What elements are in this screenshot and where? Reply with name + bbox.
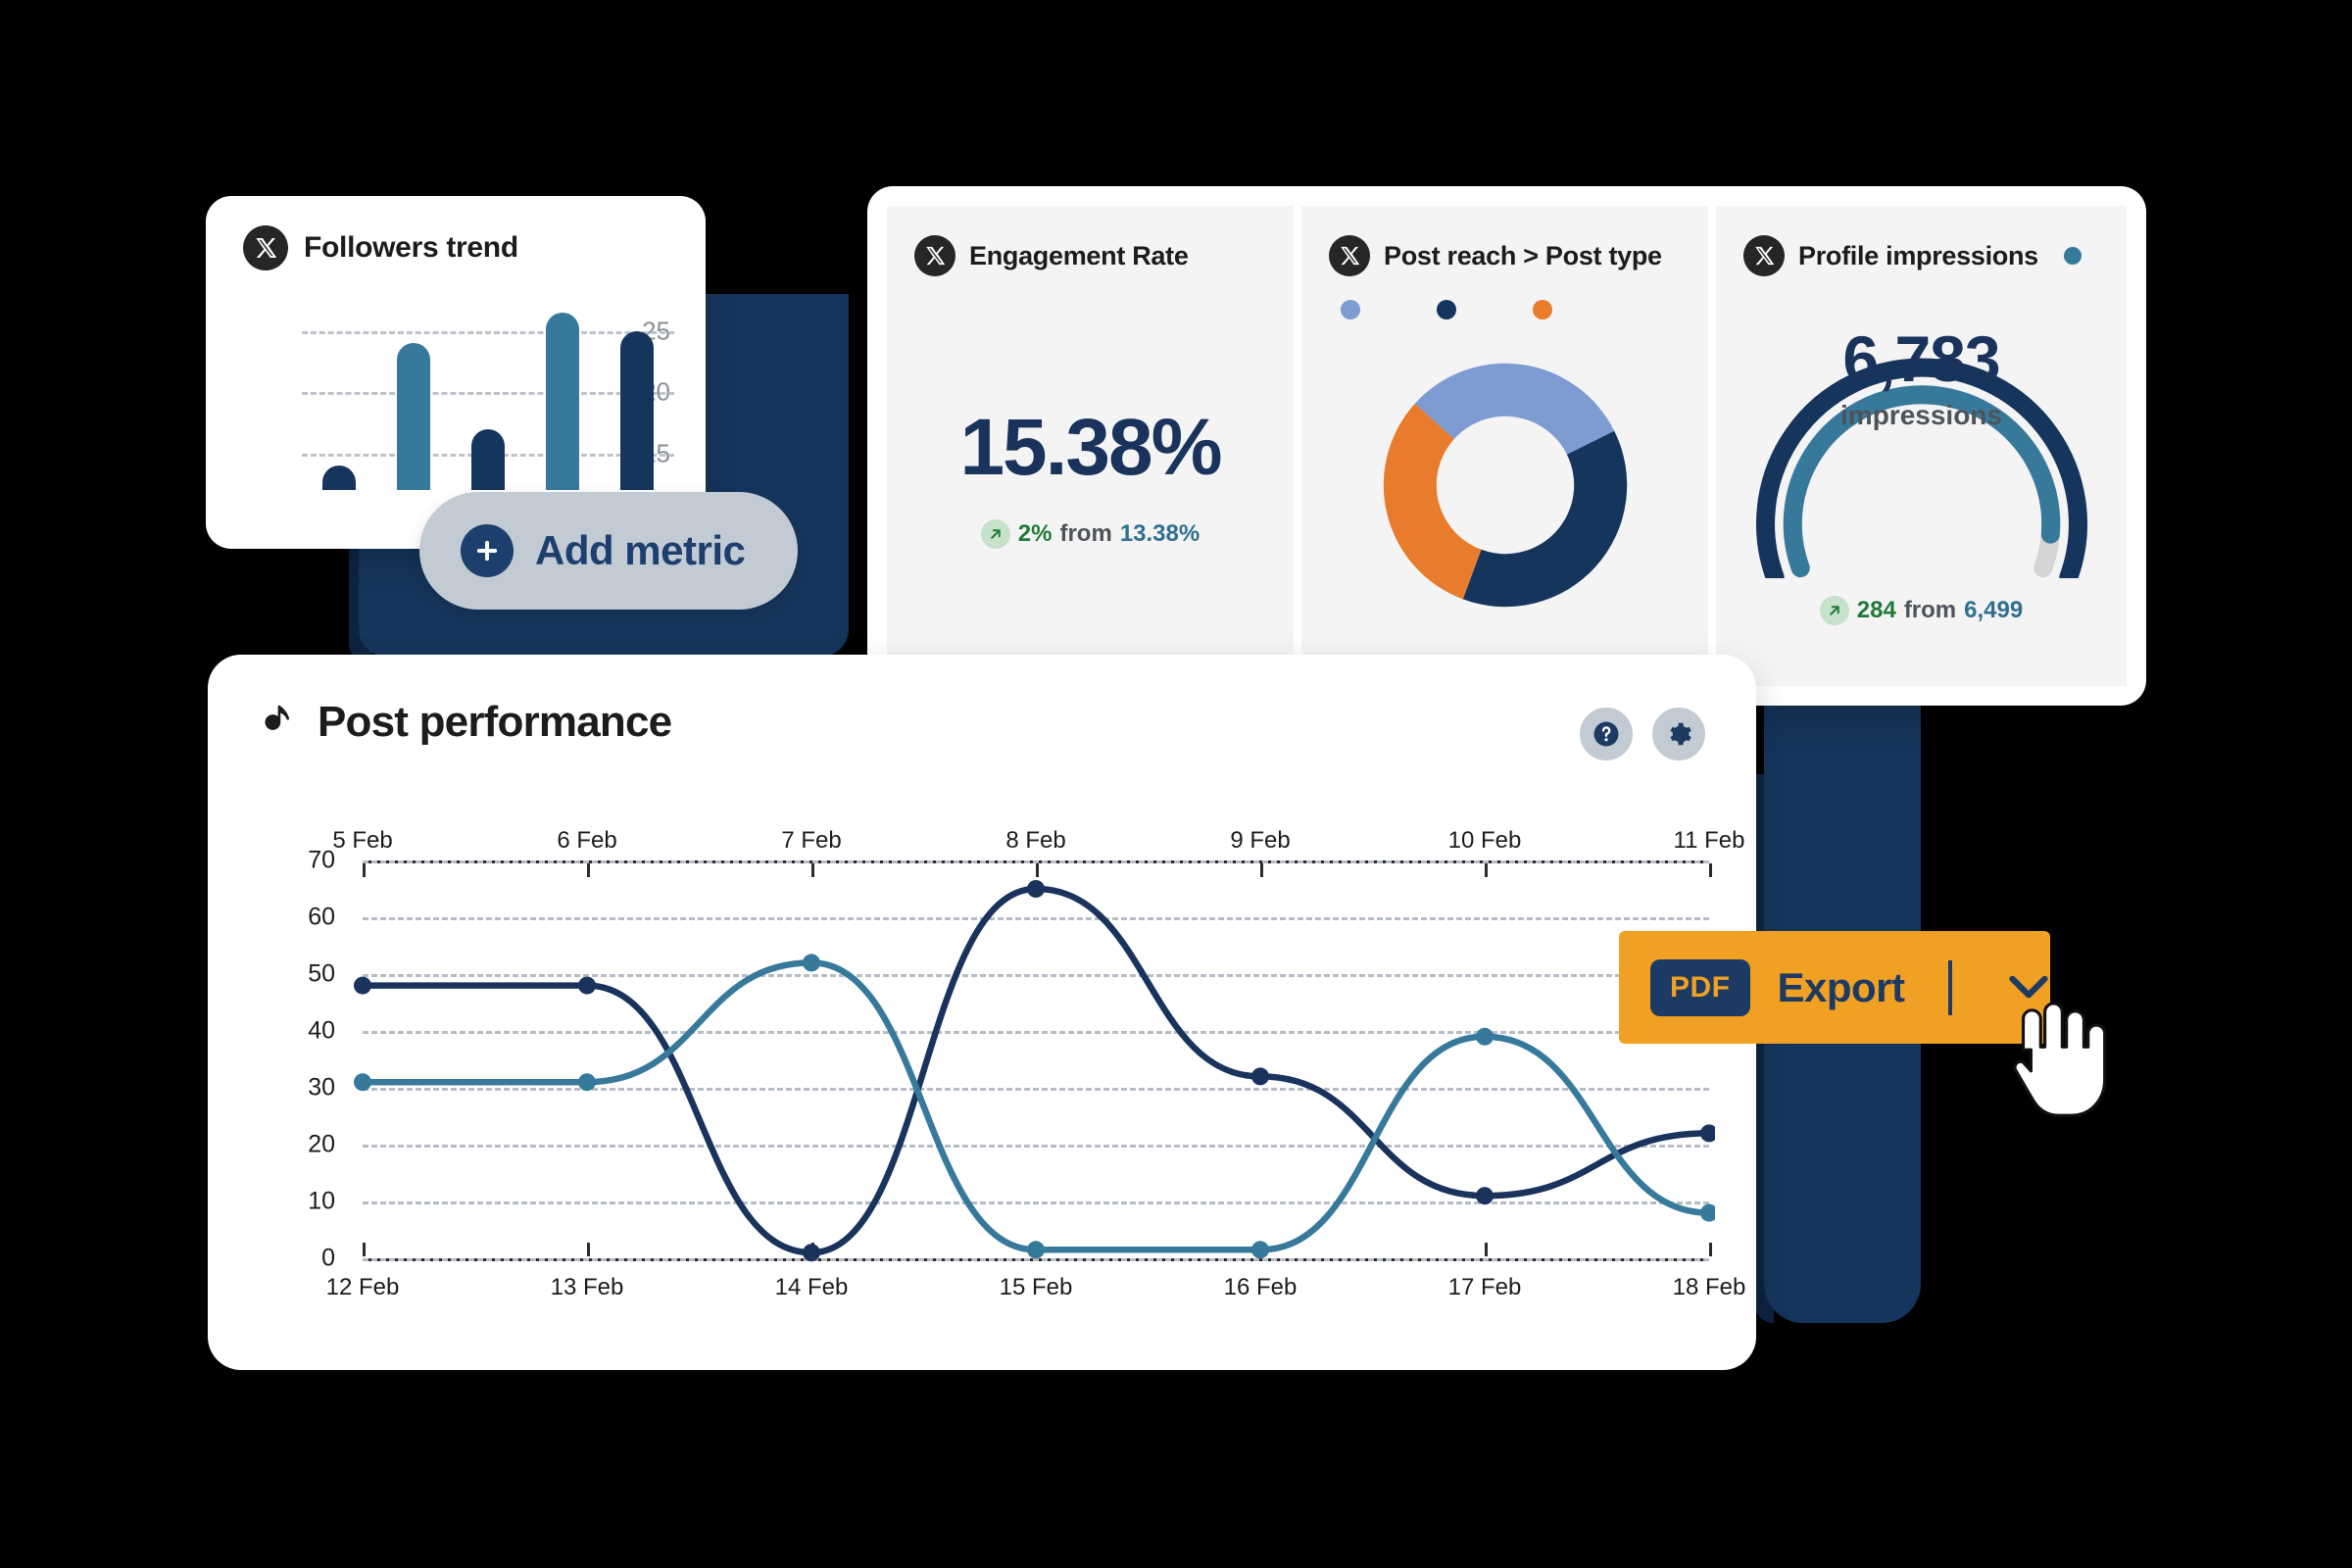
chart-data-point xyxy=(1027,880,1045,898)
followers-card-title: Followers trend xyxy=(304,231,518,265)
dashboard-stage: Followers trend 152025 Engagement Rate 1… xyxy=(0,0,2352,1568)
pointer-hand-cursor-icon xyxy=(1999,1000,2117,1127)
donut-segment xyxy=(1462,431,1626,607)
legend-dot xyxy=(1533,300,1552,319)
donut-segment xyxy=(1383,404,1481,600)
reach-tile-title: Post reach > Post type xyxy=(1384,241,1662,271)
engagement-tile-header: Engagement Rate xyxy=(887,206,1294,276)
engagement-delta-word: from xyxy=(1059,520,1111,548)
profile-impressions-tile: Profile impressions 6,783 impressions 28… xyxy=(1716,206,2127,686)
bar-item xyxy=(397,343,430,490)
impressions-series-dot xyxy=(2064,247,2082,265)
post-performance-line-chart: 5 Feb6 Feb7 Feb8 Feb9 Feb10 Feb11 Feb12 … xyxy=(255,819,1715,1339)
engagement-delta-previous: 13.38% xyxy=(1120,520,1200,548)
impressions-delta: 284 from 6,499 xyxy=(1716,596,2127,625)
x-logo-icon xyxy=(1329,235,1370,276)
post-reach-donut-chart xyxy=(1373,353,1638,617)
engagement-delta-value: 2% xyxy=(1018,520,1053,548)
chart-data-point xyxy=(1700,1124,1715,1142)
bar-item xyxy=(471,429,505,491)
question-mark-icon[interactable] xyxy=(1580,708,1633,760)
export-label: Export xyxy=(1778,964,1905,1011)
engagement-value: 15.38% xyxy=(887,402,1294,494)
chart-data-point xyxy=(578,1073,596,1091)
chart-line-series-navy xyxy=(363,889,1709,1252)
arrow-up-right-icon xyxy=(981,519,1010,549)
reach-legend xyxy=(1341,300,1552,319)
impressions-delta-previous: 6,499 xyxy=(1964,597,2023,624)
x-logo-icon xyxy=(914,235,955,276)
bar-plot-area xyxy=(302,294,674,490)
chart-data-point xyxy=(354,977,371,995)
chevron-down-icon[interactable] xyxy=(2007,973,2050,1003)
chart-data-point xyxy=(578,977,596,995)
bar-item xyxy=(322,465,356,490)
chart-data-point xyxy=(1027,1241,1045,1258)
bar-item xyxy=(546,313,579,490)
chart-data-point xyxy=(803,1244,820,1261)
impressions-tile-header: Profile impressions xyxy=(1716,206,2127,276)
chart-data-point xyxy=(1476,1028,1494,1046)
pdf-format-badge: PDF xyxy=(1650,959,1750,1016)
add-metric-button[interactable]: Add metric xyxy=(419,492,798,610)
chart-data-point xyxy=(1251,1067,1269,1085)
metrics-strip-card: Engagement Rate 15.38% 2% from 13.38% Po… xyxy=(867,186,2146,706)
gear-icon[interactable] xyxy=(1652,708,1705,760)
chart-data-point xyxy=(1476,1187,1494,1204)
plus-circle-icon xyxy=(461,524,514,577)
post-reach-tile: Post reach > Post type xyxy=(1301,206,1708,686)
impressions-delta-value: 284 xyxy=(1857,597,1896,624)
followers-card-header: Followers trend xyxy=(206,196,706,270)
decorative-panel-right xyxy=(1764,774,1921,1323)
impressions-unit: impressions xyxy=(1716,400,2127,431)
reach-tile-header: Post reach > Post type xyxy=(1301,206,1708,276)
chart-data-point xyxy=(354,1073,371,1091)
chart-data-point xyxy=(1700,1204,1715,1222)
engagement-rate-tile: Engagement Rate 15.38% 2% from 13.38% xyxy=(887,206,1294,686)
impressions-tile-title: Profile impressions xyxy=(1798,241,2038,271)
legend-dot xyxy=(1341,300,1360,319)
impressions-delta-word: from xyxy=(1904,597,1956,624)
chart-line-series-teal xyxy=(363,962,1709,1249)
add-metric-label: Add metric xyxy=(535,527,745,574)
legend-dot xyxy=(1437,300,1456,319)
engagement-delta: 2% from 13.38% xyxy=(887,519,1294,549)
performance-card-actions xyxy=(1580,708,1705,760)
export-divider xyxy=(1948,960,1952,1015)
post-performance-card: Post performance 5 Feb6 Feb7 Feb8 Feb9 F… xyxy=(208,655,1756,1370)
performance-card-title: Post performance xyxy=(318,698,671,747)
chart-data-point xyxy=(803,954,820,971)
sound-wave-icon xyxy=(255,702,296,743)
engagement-tile-title: Engagement Rate xyxy=(969,241,1189,271)
impressions-value: 6,783 xyxy=(1716,321,2127,396)
chart-series-layer xyxy=(255,819,1715,1339)
bar-item xyxy=(620,331,654,491)
x-logo-icon xyxy=(1743,235,1785,276)
export-button[interactable]: PDF Export xyxy=(1619,931,2050,1044)
chart-data-point xyxy=(1251,1241,1269,1258)
performance-card-header: Post performance xyxy=(208,655,1756,747)
x-logo-icon xyxy=(243,225,288,270)
arrow-up-right-icon xyxy=(1820,596,1849,625)
